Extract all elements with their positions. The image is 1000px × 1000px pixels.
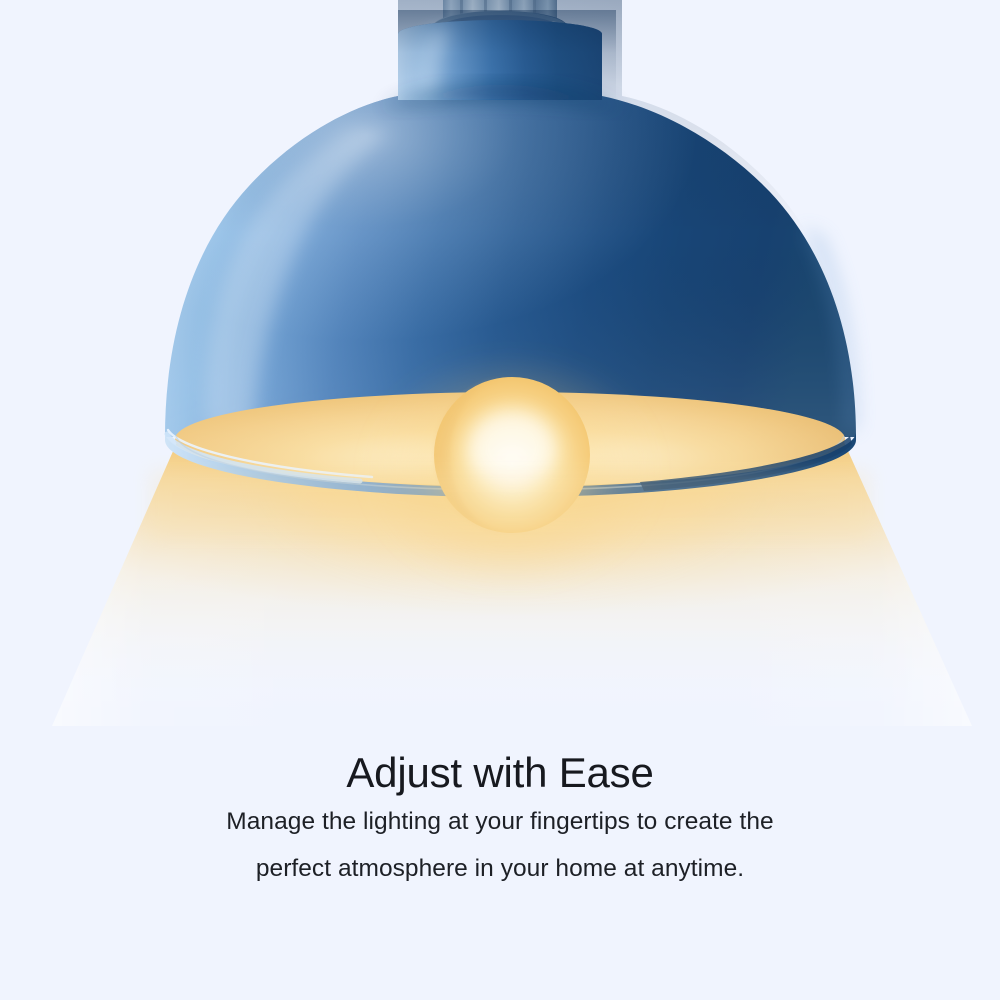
- cone-blend: [150, 470, 870, 540]
- pendant-lamp-graphic: [0, 0, 1000, 760]
- description-line-1: Manage the lighting at your fingertips t…: [0, 798, 1000, 845]
- lamp-illustration: [0, 0, 1000, 760]
- promo-card: Adjust with Ease Manage the lighting at …: [0, 0, 1000, 1000]
- page-title: Adjust with Ease: [0, 748, 1000, 798]
- feature-description: Manage the lighting at your fingertips t…: [0, 798, 1000, 892]
- feature-text-block: Adjust with Ease Manage the lighting at …: [0, 748, 1000, 892]
- description-line-2: perfect atmosphere in your home at anyti…: [0, 845, 1000, 892]
